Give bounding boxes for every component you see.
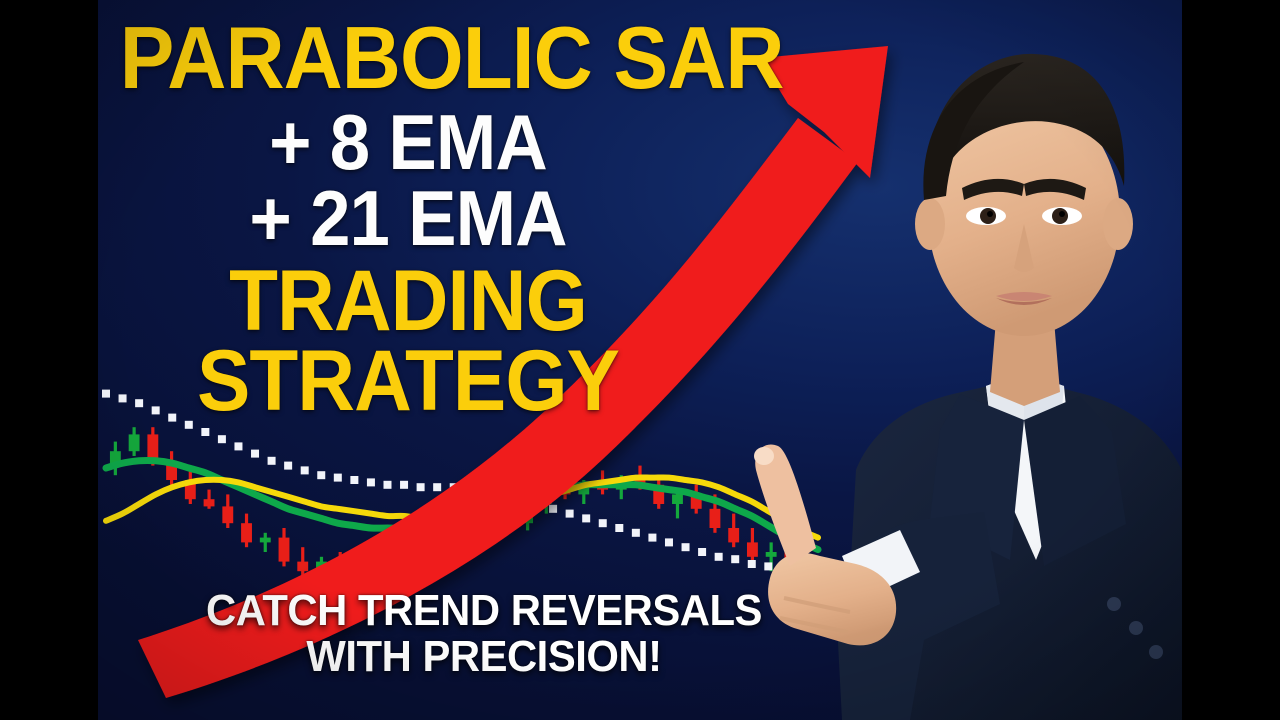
title-line-2: + 8 EMA — [120, 99, 697, 179]
title-block: PARABOLIC SAR + 8 EMA + 21 EMA TRADING S… — [98, 0, 718, 421]
thumbnail-canvas: PARABOLIC SAR + 8 EMA + 21 EMA TRADING S… — [0, 0, 1280, 720]
subtitle-line-2: WITH PRECISION! — [123, 634, 845, 680]
pillarbox-right — [1182, 0, 1280, 720]
title-line-4: TRADING — [120, 254, 697, 341]
title-line-1: PARABOLIC SAR — [120, 0, 697, 99]
candle-series — [110, 427, 814, 585]
subtitle-block: CATCH TREND REVERSALS WITH PRECISION! — [104, 588, 864, 680]
title-line-5: STRATEGY — [120, 342, 697, 421]
ema8-line — [106, 477, 818, 537]
artwork-area: PARABOLIC SAR + 8 EMA + 21 EMA TRADING S… — [98, 0, 1182, 720]
title-line-3: + 21 EMA — [120, 179, 697, 255]
subtitle-line-1: CATCH TREND REVERSALS — [123, 588, 845, 634]
pillarbox-left — [0, 0, 98, 720]
